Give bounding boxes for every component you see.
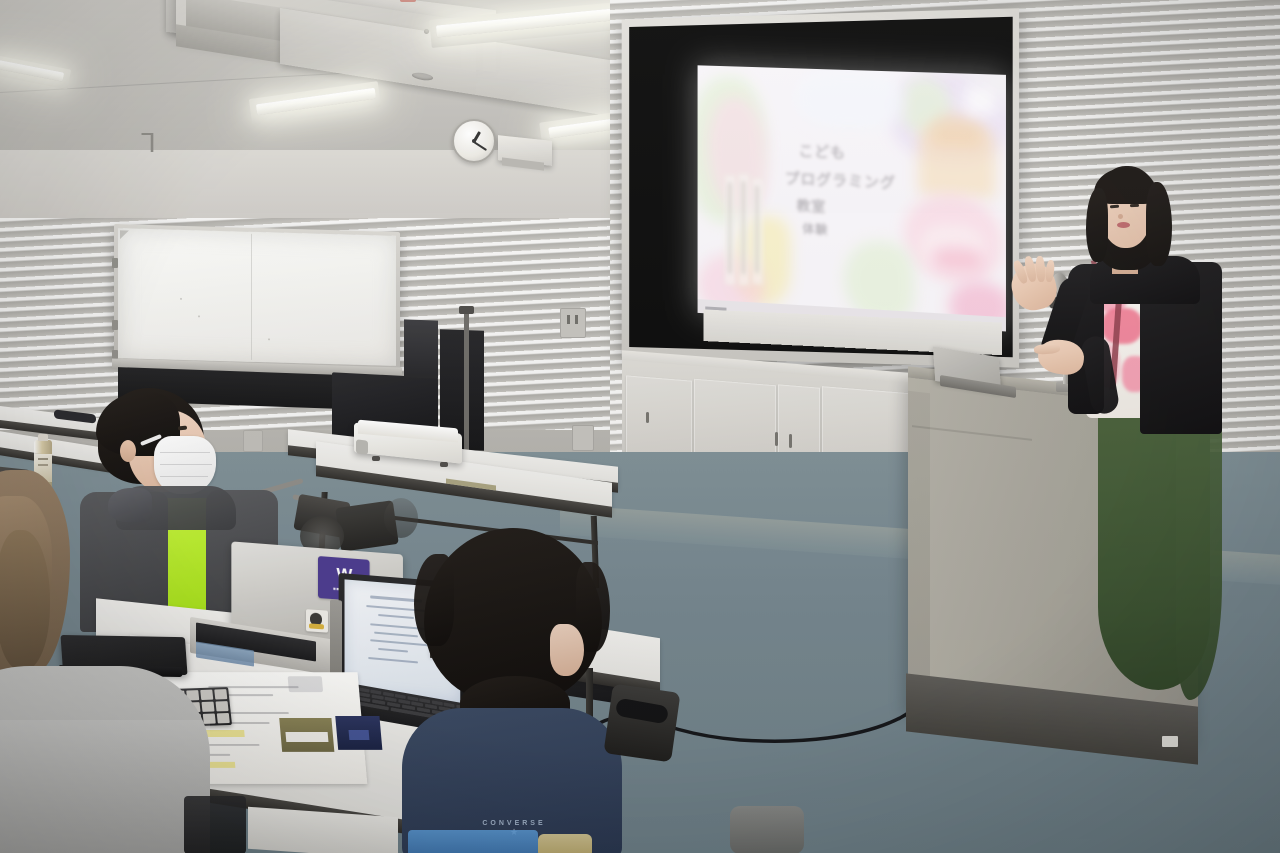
equipment-box xyxy=(404,319,438,378)
presenter-skirt-flare xyxy=(1176,410,1222,700)
cabinet-handle[interactable] xyxy=(789,434,792,448)
whiteboard-seam xyxy=(251,234,252,360)
presenter xyxy=(990,160,1240,700)
whiteboard-corner xyxy=(120,230,129,239)
shirt-stripe xyxy=(408,830,538,853)
whiteboard-mark xyxy=(198,315,200,317)
whiteboard-clip xyxy=(112,320,118,330)
projector-foot xyxy=(440,462,448,467)
chair-back-right xyxy=(603,684,680,763)
tripod-head xyxy=(459,306,474,314)
handout-thumbnail-1 xyxy=(279,718,334,752)
presenter-hair-side xyxy=(1146,182,1172,266)
slide-washout-overlay xyxy=(698,65,1006,331)
laptop-sticker-small xyxy=(306,609,328,632)
handout-thumbnail-2 xyxy=(335,716,382,750)
shirt-brand-text: CONVERSE xyxy=(454,820,574,827)
tripod-pole xyxy=(464,312,469,452)
wall-hook-icon: ᒣ xyxy=(140,130,156,156)
classroom-scene: ᒣ xyxy=(0,0,1280,853)
presenter-mouth xyxy=(1117,222,1130,228)
presenter-hair-side-left xyxy=(1086,188,1108,262)
shirt-graphic xyxy=(538,834,592,853)
cabinet-handle[interactable] xyxy=(775,432,778,446)
cabinet-handle[interactable] xyxy=(646,412,649,423)
wall-outlet xyxy=(560,308,586,338)
whiteboard[interactable] xyxy=(118,228,396,366)
presenter-nose xyxy=(1118,214,1123,219)
projector-lens xyxy=(356,439,368,454)
presenter-eye-left xyxy=(1110,205,1119,209)
wall-clock xyxy=(452,119,496,163)
whiteboard-mark xyxy=(180,298,182,300)
wall-outlet xyxy=(572,425,594,451)
projector-foot xyxy=(372,456,380,461)
projected-slide[interactable]: こども プログラミング 教室 体験 xyxy=(698,65,1006,331)
presenter-eye-right xyxy=(1130,204,1139,207)
chair-foreground xyxy=(730,806,804,853)
foreground-dark-object xyxy=(184,796,246,853)
podium-label-tag xyxy=(1162,736,1178,747)
ceiling-red-marker xyxy=(400,0,416,2)
ceiling-sensor xyxy=(424,29,429,34)
student-ear-cheek xyxy=(550,624,584,676)
student-ear xyxy=(120,440,136,462)
clock-center xyxy=(472,139,476,143)
whiteboard-mark xyxy=(268,338,270,340)
student-converse: CONVERSE ★ xyxy=(394,528,634,853)
handout-header-logo xyxy=(288,676,324,692)
student-hair-wisp xyxy=(414,554,454,646)
sweater-shading xyxy=(0,720,210,853)
whiteboard-clip xyxy=(112,258,118,268)
